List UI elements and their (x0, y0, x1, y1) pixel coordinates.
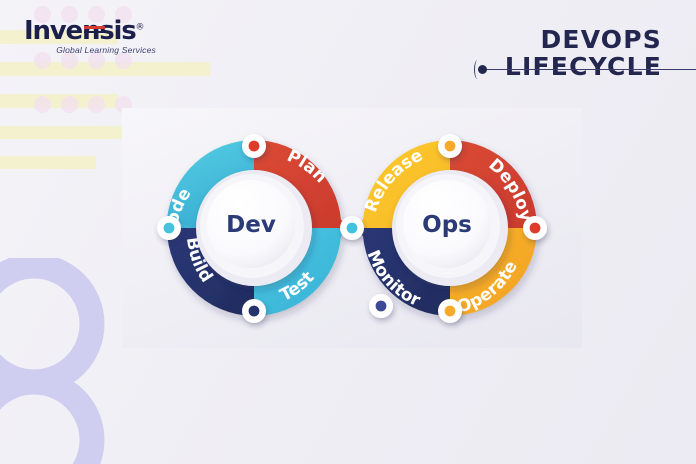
hub-ops: Ops (392, 170, 508, 286)
registered-mark: ® (136, 22, 144, 32)
node-center[interactable] (340, 216, 364, 240)
decor-yellow-bar (0, 156, 96, 169)
node-deploy-operate[interactable] (523, 216, 547, 240)
brand-logo[interactable]: Invensis® Global Learning Services (24, 18, 156, 58)
decor-dot (88, 96, 105, 113)
decor-dot (34, 96, 51, 113)
node-monitor-operate[interactable] (438, 299, 462, 323)
node-code-plan[interactable] (242, 134, 266, 158)
title-line-1: DEVOPS (505, 26, 662, 53)
devops-lifecycle-diagram: Code Plan Build Test Release Deploy Moni… (122, 108, 582, 348)
hub-dev-label: Dev (226, 212, 276, 238)
brand-tagline: Global Learning Services (24, 45, 156, 55)
decor-dot (61, 96, 78, 113)
node-release-deploy[interactable] (438, 134, 462, 158)
node-monitor-release[interactable] (369, 294, 393, 318)
brand-name: Invensis® (24, 18, 156, 44)
page-title: DEVOPS LIFECYCLE (505, 26, 662, 80)
decor-yellow-bar (0, 94, 118, 108)
title-rule (480, 69, 696, 70)
hub-dev: Dev (196, 170, 312, 286)
decor-yellow-bar (0, 62, 210, 76)
title-line-2: LIFECYCLE (505, 53, 662, 80)
hub-ops-label: Ops (422, 212, 472, 238)
title-rule-dot-icon (478, 65, 487, 74)
node-code-build[interactable] (157, 216, 181, 240)
infographic-canvas: Invensis® Global Learning Services DEVOP… (0, 0, 696, 464)
logo-bars-icon (84, 26, 105, 35)
node-build-test[interactable] (242, 299, 266, 323)
